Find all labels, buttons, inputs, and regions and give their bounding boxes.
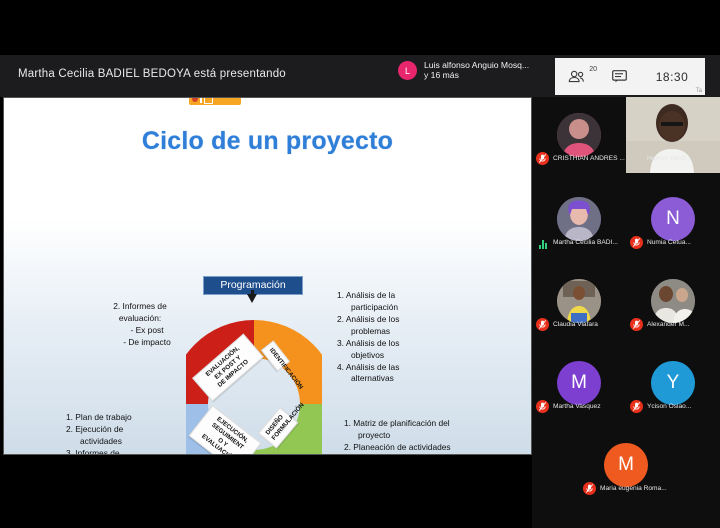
slide-title: Ciclo de un proyecto [4,127,531,156]
participants-count-button[interactable]: 20 [555,70,599,83]
participant-name: Claudia Viafara [553,321,598,328]
avatar [557,279,601,323]
meeting-window: Martha Cecilia BADIEL BEDOYA está presen… [0,0,720,528]
participant-tile[interactable]: M Martha Vasquez [532,345,626,421]
participant-name: Martha Vasquez [553,403,601,410]
avatar: M [604,443,648,487]
arrow-down-icon [247,294,257,303]
mic-off-icon [536,318,549,331]
avatar-photo [557,279,601,323]
avatar [651,279,695,323]
participant-name: CRISTHIAN ANDRES ... [553,155,625,162]
participant-name: Ycison Osiao... [647,403,691,410]
avatar-initial: N [666,208,680,230]
mic-off-icon [536,400,549,413]
project-cycle-wheel: EVALUACIÓN, EX POST Y DE IMPACTO IDENTIF… [186,316,322,455]
participants-rail[interactable]: CRISTHIAN ANDRES ... Helmer Heyd... [532,97,720,528]
avatar: Y [651,361,695,405]
text-block-bottom-left: 1. Plan de trabajo 2. Ejecución de activ… [66,412,191,455]
active-speaker-more: y 16 más [424,71,529,81]
participant-tile[interactable]: Helmer Heyd... [626,97,720,173]
avatar: M [557,361,601,405]
mic-off-icon [536,152,549,165]
system-tray: 20 18:30 Ta [555,58,705,95]
chat-button[interactable] [599,70,639,83]
pause-bar-icon [200,97,202,103]
mic-off-icon [630,318,643,331]
avatar: N [651,197,695,241]
avatar-initial: M [571,372,587,394]
shared-screen-slide[interactable]: Ciclo de un proyecto Programación EVALUA… [3,97,532,455]
presenting-status: Martha Cecilia BADIEL BEDOYA está presen… [18,68,286,80]
text-block-top-right: 1. Análisis de la participación 2. Análi… [337,290,457,385]
participant-name: Numia Cetua... [647,239,691,246]
active-speaker-avatar: L [398,61,417,80]
participants-count: 20 [589,66,597,73]
avatar [557,113,601,157]
avatar [557,197,601,241]
mic-off-icon [630,236,643,249]
people-icon [568,70,586,83]
active-speaker-chip[interactable]: L Luis alfonso Anguio Mosq... y 16 más [398,61,529,81]
avatar-photo [651,279,695,323]
text-block-bottom-right: 1. Matriz de planificación del proyecto … [344,418,509,455]
participant-tile[interactable]: Y Ycison Osiao... [626,345,720,421]
record-dot-icon [192,97,198,102]
avatar-initial: M [618,454,634,476]
avatar-photo [557,113,601,157]
avatar-photo [557,197,601,241]
system-clock: 18:30 [639,70,705,84]
participant-name: Martha Cecilia BADI... [553,239,618,246]
mic-off-icon [583,482,596,495]
chat-icon [612,70,627,83]
participant-name: Alexander M... [647,321,690,328]
mic-on-icon[interactable] [536,236,549,249]
participant-name: Maria eugenia Roma... [600,485,667,492]
mic-off-icon [630,400,643,413]
stop-square-icon [204,97,213,104]
participant-tile[interactable]: CRISTHIAN ANDRES ... [532,97,626,173]
participant-tile[interactable]: Alexander M... [626,263,720,339]
participant-tile[interactable]: M Maria eugenia Roma... [579,427,673,503]
participant-name: Helmer Heyd... [647,155,691,162]
recording-indicator [189,97,241,105]
participant-tile[interactable]: Claudia Viafara [532,263,626,339]
avatar-initial: Y [667,372,680,394]
participant-tile[interactable]: Martha Cecilia BADI... [532,181,626,257]
tray-hint: Ta [696,88,702,94]
text-block-top-left: 2. Informes de evaluación: - Ex post - D… [88,301,192,349]
participant-tile[interactable]: N Numia Cetua... [626,181,720,257]
